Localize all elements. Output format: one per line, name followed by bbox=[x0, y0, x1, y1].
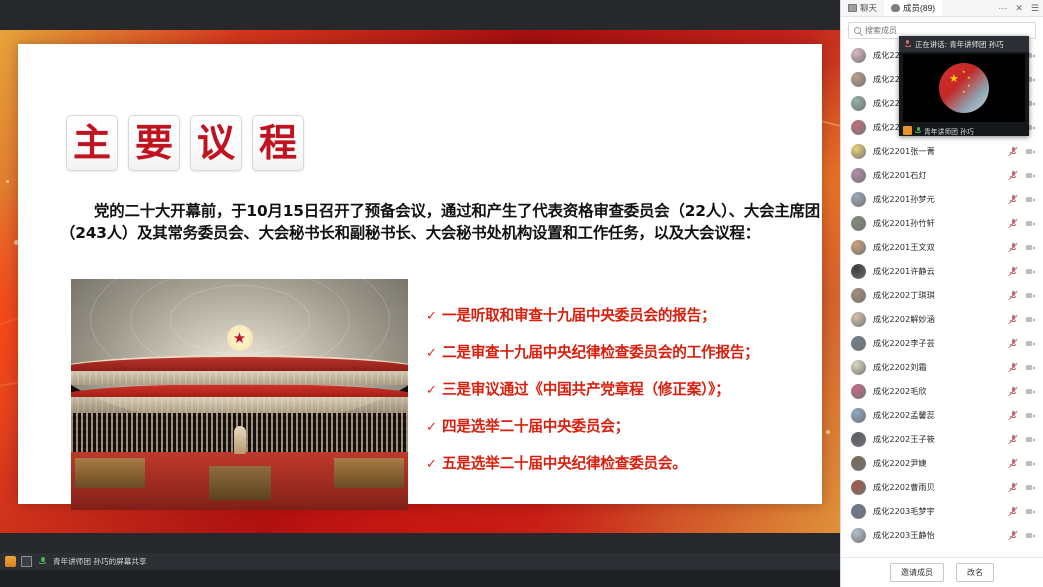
decorative-spark bbox=[826, 430, 830, 434]
title-char-box: 议 bbox=[190, 115, 242, 171]
member-name: 成化2201王文双 bbox=[873, 241, 1001, 253]
avatar bbox=[851, 120, 866, 135]
avatar bbox=[851, 216, 866, 231]
paragraph-text: 党的二十大开幕前，于10月15日召开了预备会议，通过和产生了代表资格审查委员会（… bbox=[60, 202, 820, 242]
member-row[interactable]: 成化2201张一菁 bbox=[841, 139, 1043, 163]
more-options-icon[interactable]: ··· bbox=[994, 3, 1011, 13]
search-icon bbox=[854, 27, 861, 34]
bullet-item: ✓ 五是选举二十届中央纪律检查委员会。 bbox=[426, 454, 820, 474]
member-name: 成化2202丁琪琪 bbox=[873, 289, 1001, 301]
mic-muted-icon[interactable] bbox=[1008, 242, 1018, 252]
camera-off-icon[interactable] bbox=[1025, 146, 1035, 156]
member-row[interactable]: 成化2201王文双 bbox=[841, 235, 1043, 259]
mic-muted-icon[interactable] bbox=[1008, 506, 1018, 516]
camera-off-icon[interactable] bbox=[1025, 362, 1035, 372]
mic-muted-icon[interactable] bbox=[1008, 530, 1018, 540]
person-icon bbox=[5, 556, 16, 567]
avatar bbox=[851, 144, 866, 159]
share-label: 青年讲师团 孙巧的屏幕共享 bbox=[53, 556, 147, 567]
slide-content-card: 主 要 议 程 党的二十大开幕前，于10月15日召开了预备会议，通过和产生了代表… bbox=[18, 44, 822, 504]
mic-muted-icon[interactable] bbox=[1008, 170, 1018, 180]
bullet-text: 五是选举二十届中央纪律检查委员会。 bbox=[442, 454, 687, 474]
avatar bbox=[851, 432, 866, 447]
video-feed[interactable]: ★ ★ ★ ★ ★ bbox=[903, 54, 1025, 122]
camera-off-icon[interactable] bbox=[1025, 434, 1035, 444]
mic-muted-icon[interactable] bbox=[1008, 410, 1018, 420]
screen-share-icon[interactable] bbox=[21, 556, 32, 567]
avatar bbox=[851, 384, 866, 399]
camera-off-icon[interactable] bbox=[1025, 386, 1035, 396]
flag-small-star-icon: ★ bbox=[962, 70, 966, 74]
camera-off-icon[interactable] bbox=[1025, 242, 1035, 252]
decorative-spark bbox=[6, 180, 9, 183]
camera-off-icon[interactable] bbox=[1025, 458, 1035, 468]
member-name: 成化2201孙梦元 bbox=[873, 193, 1001, 205]
avatar bbox=[851, 336, 866, 351]
avatar bbox=[851, 72, 866, 87]
title-char-box: 要 bbox=[128, 115, 180, 171]
member-row[interactable]: 成化2202解妙涵 bbox=[841, 307, 1043, 331]
title-char-box: 主 bbox=[66, 115, 118, 171]
mic-muted-icon[interactable] bbox=[1008, 218, 1018, 228]
check-icon: ✓ bbox=[426, 380, 442, 400]
mic-muted-icon[interactable] bbox=[1008, 194, 1018, 204]
tab-members[interactable]: 成员(89) bbox=[884, 0, 942, 16]
hall-stage bbox=[71, 452, 408, 510]
bullet-text: 一是听取和审查十九届中央委员会的报告； bbox=[442, 306, 715, 326]
bullet-item: ✓ 一是听取和审查十九届中央委员会的报告； bbox=[426, 306, 820, 326]
mic-muted-icon[interactable] bbox=[1008, 386, 1018, 396]
participant-name: 青年讲师团 孙巧 bbox=[924, 126, 974, 136]
video-name-bar: 青年讲师团 孙巧 bbox=[899, 124, 1029, 136]
tab-chat[interactable]: 聊天 bbox=[841, 0, 884, 16]
avatar bbox=[851, 168, 866, 183]
avatar bbox=[851, 504, 866, 519]
mic-muted-icon[interactable] bbox=[1008, 338, 1018, 348]
slide-paragraph: 党的二十大开幕前，于10月15日召开了预备会议，通过和产生了代表资格审查委员会（… bbox=[60, 201, 820, 245]
member-row[interactable]: 成化2201石灯 bbox=[841, 163, 1043, 187]
title-char-box: 程 bbox=[252, 115, 304, 171]
member-name: 成化2202曹雨贝 bbox=[873, 481, 1001, 493]
avatar: ★ ★ ★ ★ ★ bbox=[939, 63, 989, 113]
camera-off-icon[interactable] bbox=[1025, 530, 1035, 540]
camera-off-icon[interactable] bbox=[1025, 410, 1035, 420]
rename-button[interactable]: 改名 bbox=[956, 563, 994, 582]
flag-small-star-icon: ★ bbox=[967, 84, 971, 88]
person-icon bbox=[891, 4, 900, 12]
member-row[interactable]: 成化2202毛欣 bbox=[841, 379, 1043, 403]
member-row[interactable]: 成化2202曹雨贝 bbox=[841, 475, 1043, 499]
member-name: 成化2203王静怡 bbox=[873, 529, 1001, 541]
avatar bbox=[851, 96, 866, 111]
check-icon: ✓ bbox=[426, 454, 442, 474]
mic-muted-icon[interactable] bbox=[1008, 434, 1018, 444]
member-row[interactable]: 成化2202王子筱 bbox=[841, 427, 1043, 451]
mic-muted-icon[interactable] bbox=[1008, 146, 1018, 156]
mic-muted-icon[interactable] bbox=[1008, 482, 1018, 492]
avatar bbox=[851, 480, 866, 495]
hall-speaker-figure bbox=[234, 426, 246, 454]
slide-title: 主 要 议 程 bbox=[66, 115, 304, 171]
member-name: 成化2201孙竹轩 bbox=[873, 217, 1001, 229]
chat-icon bbox=[848, 4, 857, 12]
member-name: 成化2202刘霜 bbox=[873, 361, 1001, 373]
member-name: 成化2201张一菁 bbox=[873, 145, 1001, 157]
screen-share-area: 主 要 议 程 党的二十大开幕前，于10月15日召开了预备会议，通过和产生了代表… bbox=[0, 0, 840, 570]
check-icon: ✓ bbox=[426, 417, 442, 437]
member-name: 成化2202孟馨蕊 bbox=[873, 409, 1001, 421]
member-row[interactable]: 成化2202李子芸 bbox=[841, 331, 1043, 355]
share-taskbar[interactable]: 青年讲师团 孙巧的屏幕共享 bbox=[0, 553, 840, 570]
avatar bbox=[851, 528, 866, 543]
member-name: 成化2202尹婕 bbox=[873, 457, 1001, 469]
member-name: 成化2202毛欣 bbox=[873, 385, 1001, 397]
bullet-item: ✓ 三是审议通过《中国共产党章程（修正案）》； bbox=[426, 380, 820, 400]
bullet-text: 二是审查十九届中央纪律检查委员会的工作报告； bbox=[442, 343, 759, 363]
member-name: 成化2202李子芸 bbox=[873, 337, 1001, 349]
check-icon: ✓ bbox=[426, 306, 442, 326]
speaking-label: 正在讲话: 青年讲师团 孙巧 bbox=[915, 39, 1004, 50]
avatar bbox=[851, 456, 866, 471]
mic-muted-icon[interactable] bbox=[1008, 290, 1018, 300]
tab-chat-label: 聊天 bbox=[860, 2, 877, 14]
panel-tab-bar: 聊天 成员(89) ··· ✕ ☰ bbox=[841, 0, 1043, 17]
avatar bbox=[851, 288, 866, 303]
hall-desk bbox=[334, 458, 404, 488]
share-top-strip bbox=[0, 0, 840, 30]
avatar bbox=[851, 192, 866, 207]
mic-active-icon bbox=[904, 40, 911, 48]
menu-icon[interactable]: ☰ bbox=[1027, 3, 1043, 14]
avatar bbox=[851, 360, 866, 375]
floating-video-window[interactable]: 正在讲话: 青年讲师团 孙巧 ★ ★ ★ ★ ★ 青年讲师团 孙巧 bbox=[899, 36, 1029, 136]
avatar bbox=[851, 312, 866, 327]
member-name: 成化2203毛梦宇 bbox=[873, 505, 1001, 517]
member-row[interactable]: 成化2202孟馨蕊 bbox=[841, 403, 1043, 427]
hall-podium bbox=[209, 466, 271, 500]
hall-desk bbox=[75, 458, 145, 488]
red-star-icon: ★ bbox=[227, 325, 253, 351]
member-row[interactable]: 成化2203王静怡 bbox=[841, 523, 1043, 547]
mic-muted-icon[interactable] bbox=[1008, 458, 1018, 468]
member-row[interactable]: 成化2202丁琪琪 bbox=[841, 283, 1043, 307]
camera-off-icon[interactable] bbox=[1025, 194, 1035, 204]
camera-off-icon[interactable] bbox=[1025, 314, 1035, 324]
close-icon[interactable]: ✕ bbox=[1011, 3, 1027, 14]
check-icon: ✓ bbox=[426, 343, 442, 363]
camera-off-icon[interactable] bbox=[1025, 506, 1035, 516]
bullet-item: ✓ 二是审查十九届中央纪律检查委员会的工作报告； bbox=[426, 343, 820, 363]
member-name: 成化2202解妙涵 bbox=[873, 313, 1001, 325]
flag-big-star-icon: ★ bbox=[949, 74, 959, 85]
camera-off-icon[interactable] bbox=[1025, 266, 1035, 276]
hall-seats bbox=[71, 371, 408, 385]
member-name: 成化2202王子筱 bbox=[873, 433, 1001, 445]
member-row[interactable]: 成化2202刘霜 bbox=[841, 355, 1043, 379]
member-row[interactable]: 成化2202尹婕 bbox=[841, 451, 1043, 475]
hall-seats bbox=[71, 397, 408, 413]
flag-small-star-icon: ★ bbox=[967, 76, 971, 80]
mic-muted-icon[interactable] bbox=[1008, 314, 1018, 324]
member-row[interactable]: 成化2201孙梦元 bbox=[841, 187, 1043, 211]
avatar bbox=[851, 48, 866, 63]
camera-off-icon[interactable] bbox=[1025, 482, 1035, 492]
avatar bbox=[851, 240, 866, 255]
speaking-indicator-bar: 正在讲话: 青年讲师团 孙巧 bbox=[899, 36, 1029, 52]
mic-muted-icon[interactable] bbox=[1008, 362, 1018, 372]
mic-icon[interactable] bbox=[37, 556, 48, 567]
member-row[interactable]: 成化2201孙竹轩 bbox=[841, 211, 1043, 235]
member-row[interactable]: 成化2201许静云 bbox=[841, 259, 1043, 283]
tab-members-label: 成员(89) bbox=[903, 2, 935, 14]
avatar bbox=[851, 408, 866, 423]
bullet-item: ✓ 四是选举二十届中央委员会； bbox=[426, 417, 820, 437]
panel-footer: 邀请成员 改名 bbox=[841, 557, 1043, 587]
app-window: 主 要 议 程 党的二十大开幕前，于10月15日召开了预备会议，通过和产生了代表… bbox=[0, 0, 1043, 587]
mic-muted-icon[interactable] bbox=[1008, 266, 1018, 276]
member-name: 成化2201许静云 bbox=[873, 265, 1001, 277]
member-name: 成化2201石灯 bbox=[873, 169, 1001, 181]
mic-active-icon bbox=[915, 126, 921, 135]
slide-photo: ★ bbox=[71, 279, 408, 510]
camera-off-icon[interactable] bbox=[1025, 170, 1035, 180]
avatar bbox=[851, 264, 866, 279]
search-input[interactable] bbox=[865, 26, 1030, 35]
invite-member-button[interactable]: 邀请成员 bbox=[890, 563, 944, 582]
slide-bullet-list: ✓ 一是听取和审查十九届中央委员会的报告； ✓ 二是审查十九届中央纪律检查委员会… bbox=[426, 306, 820, 491]
bullet-text: 四是选举二十届中央委员会； bbox=[442, 417, 629, 437]
camera-off-icon[interactable] bbox=[1025, 338, 1035, 348]
presentation-slide: 主 要 议 程 党的二十大开幕前，于10月15日召开了预备会议，通过和产生了代表… bbox=[0, 30, 840, 533]
host-badge-icon bbox=[903, 126, 912, 135]
bullet-text: 三是审议通过《中国共产党章程（修正案）》； bbox=[442, 380, 730, 400]
camera-off-icon[interactable] bbox=[1025, 290, 1035, 300]
flag-small-star-icon: ★ bbox=[962, 90, 966, 94]
camera-off-icon[interactable] bbox=[1025, 218, 1035, 228]
member-row[interactable]: 成化2203毛梦宇 bbox=[841, 499, 1043, 523]
